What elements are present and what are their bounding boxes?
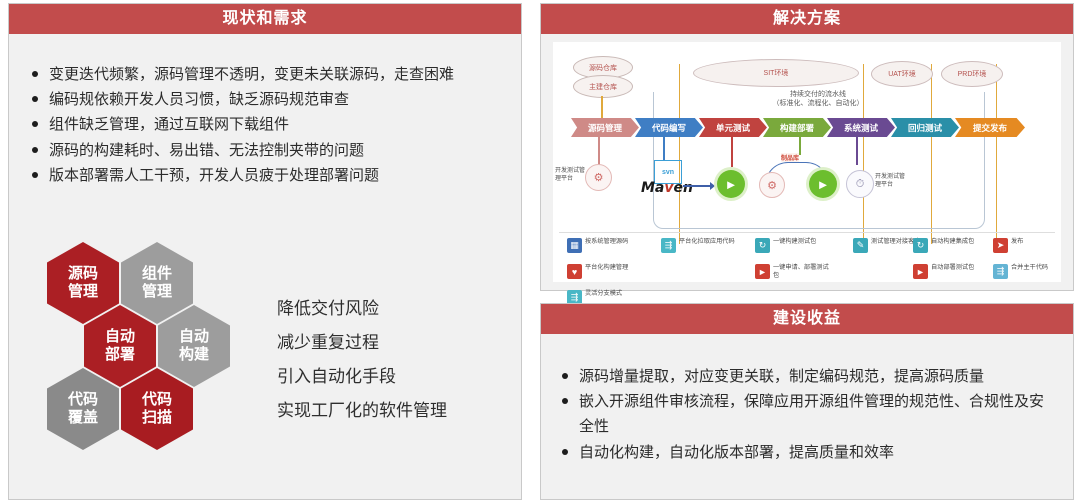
deploy-play-icon: ► — [809, 170, 837, 198]
stage-stem-line — [856, 137, 858, 165]
grid-icon: ▦ — [567, 238, 582, 253]
heart-icon: ♥ — [567, 264, 582, 279]
benefit-line: 实现工厂化的软件管理 — [277, 394, 507, 428]
env-label: PRD环境 — [958, 69, 987, 79]
env-label: UAT环境 — [888, 69, 915, 79]
stage-system-test: 系统测试 — [827, 118, 895, 137]
current-situation-bullet-list: 变更迭代频繁，源码管理不透明，变更未关联源码，走查困难 编码规依赖开发人员习惯，… — [29, 62, 499, 188]
pipeline-caption: 持续交付的流水线 （标准化、流程化、自动化） — [738, 90, 898, 108]
pipeline-caption-line2: （标准化、流程化、自动化） — [738, 99, 898, 108]
stage-source-code-management: 源码管理 — [571, 118, 639, 137]
hexagon-auto-build: 自动 构建 — [158, 305, 230, 387]
slide-root: 现状和需求 变更迭代频繁，源码管理不透明，变更未关联源码，走查困难 编码规依赖开… — [0, 0, 1080, 503]
list-item: 源码的构建耗时、易出错、无法控制夹带的问题 — [29, 138, 499, 163]
pipeline-caption-line1: 持续交付的流水线 — [738, 90, 898, 99]
maven-text-part3: en — [674, 180, 693, 196]
hexagon-label-line1: 组件 — [142, 265, 172, 283]
hexagon-label-line2: 管理 — [68, 283, 98, 301]
feature-label: 一键申请、部署测试包 — [773, 264, 831, 281]
panel-current-situation: 现状和需求 变更迭代频繁，源码管理不透明，变更未关联源码，走查困难 编码规依赖开… — [8, 3, 522, 500]
hexagon-code-coverage: 代码 覆盖 — [47, 368, 119, 450]
panel-current-situation-title: 现状和需求 — [9, 4, 521, 34]
diagram-divider — [559, 232, 1055, 233]
maven-arrow-head — [710, 182, 715, 190]
solution-diagram: 源码仓库 主建仓库 SIT环境 UAT环境 PRD环境 — [553, 42, 1061, 282]
sync-icon: ↻ — [755, 238, 770, 253]
hexagon-label-line2: 扫描 — [142, 409, 172, 427]
feature-label: 自动部署测试包 — [931, 264, 974, 272]
panel-construction-gains-body: 源码增量提取，对应变更关联，制定编码规范，提高源码质量 嵌入开源组件审核流程，保… — [541, 334, 1073, 499]
hexagon-label-line2: 覆盖 — [68, 409, 98, 427]
dev-platform-gear-icon-left: ⚙ — [585, 164, 612, 191]
stage-unit-test: 单元测试 — [699, 118, 767, 137]
list-item: 源码增量提取，对应变更关联，制定编码规范，提高源码质量 — [559, 364, 1055, 389]
list-item: 组件缺乏管理，通过互联网下载组件 — [29, 112, 499, 137]
hexagon-auto-deploy: 自动 部署 — [84, 305, 156, 387]
maven-text-part1: Ma — [641, 180, 664, 196]
feature-label: 平台化拉取应用代码 — [679, 238, 735, 246]
artifact-repo-label: 制品库 — [781, 153, 799, 162]
env-prd-ellipse: PRD环境 — [941, 61, 1003, 87]
hexagon-label-line1: 自动 — [179, 328, 209, 346]
feature-label: 自动构建集成包 — [931, 238, 974, 246]
env-sit-ellipse: SIT环境 — [693, 59, 859, 87]
stage-label: 源码管理 — [588, 122, 622, 134]
repo-label: 源码仓库 — [589, 63, 617, 73]
panel-construction-gains: 建设收益 源码增量提取，对应变更关联，制定编码规范，提高源码质量 嵌入开源组件审… — [540, 303, 1074, 500]
hexagon-label-line2: 管理 — [142, 283, 172, 301]
stage-submit-release: 提交发布 — [955, 118, 1025, 137]
hexagon-label-line1: 自动 — [105, 328, 135, 346]
branch-icon: ⇶ — [661, 238, 676, 253]
stage-label: 单元测试 — [716, 122, 750, 134]
hexagon-cluster: 源码 管理 组件 管理 自动 部署 自动 构建 代码 覆盖 — [39, 242, 259, 472]
dev-platform-label-left: 开发测试管理平台 — [555, 168, 585, 184]
feature-test-management-client: ✎ 测试管理对接客户 — [853, 238, 921, 253]
benefit-line: 引入自动化手段 — [277, 360, 507, 394]
feature-label: 合并主干代码 — [1011, 264, 1048, 272]
hexagon-label-line1: 代码 — [142, 391, 172, 409]
stage-stem-line — [663, 137, 665, 161]
list-item: 嵌入开源组件审核流程，保障应用开源组件管理的规范性、合规性及安全性 — [559, 389, 1055, 439]
feature-manage-source-by-system: ▦ 按系统管理源码 — [567, 238, 628, 253]
feature-platform-build-management: ♥ 平台化构建管理 — [567, 264, 628, 279]
hexagon-code-scan: 代码 扫描 — [121, 368, 193, 450]
feature-auto-build-integration-package: ↻ 自动构建集成包 — [913, 238, 974, 253]
env-uat-ellipse: UAT环境 — [871, 61, 933, 87]
benefit-line: 减少重复过程 — [277, 326, 507, 360]
feature-one-click-apply-deploy-test-package: ► 一键申请、部署测试包 — [755, 264, 831, 281]
stage-regression-test: 回归测试 — [891, 118, 959, 137]
maven-arrow-line — [683, 185, 711, 187]
benefit-line: 降低交付风险 — [277, 292, 507, 326]
hexagon-source-code-management: 源码 管理 — [47, 242, 119, 324]
env-label: SIT环境 — [764, 68, 789, 78]
feature-label: 发布 — [1011, 238, 1023, 246]
stage-build-deploy: 构建部署 — [763, 118, 831, 137]
panel-construction-gains-title: 建设收益 — [541, 304, 1073, 334]
stage-label: 回归测试 — [908, 122, 942, 134]
list-item: 编码规依赖开发人员习惯，缺乏源码规范审查 — [29, 87, 499, 112]
stage-label: 提交发布 — [973, 122, 1007, 134]
hexagon-label-line2: 构建 — [179, 346, 209, 364]
rocket-icon: ➤ — [993, 238, 1008, 253]
feature-label: 一键构建测试包 — [773, 238, 816, 246]
sync-icon: ↻ — [913, 238, 928, 253]
list-item: 变更迭代频繁，源码管理不透明，变更未关联源码，走查困难 — [29, 62, 499, 87]
feature-label: 灵活分支模式 — [585, 290, 622, 298]
maven-text-part2: v — [664, 180, 673, 196]
maven-logo: Maven — [641, 180, 693, 196]
dev-platform-gauge-icon-right: ⏱ — [846, 170, 874, 198]
play-icon: ► — [913, 264, 928, 279]
panel-solution: 解决方案 源码仓库 主建仓库 SIT环境 — [540, 3, 1074, 291]
panel-solution-body: 源码仓库 主建仓库 SIT环境 UAT环境 PRD环境 — [541, 34, 1073, 290]
stage-stem-line — [731, 137, 733, 167]
stage-stem-line — [598, 137, 600, 167]
repo-label: 主建仓库 — [589, 82, 617, 92]
list-item: 自动化构建，自动化版本部署，提高质量和效率 — [559, 440, 1055, 465]
edit-icon: ✎ — [853, 238, 868, 253]
branch-icon: ⇶ — [993, 264, 1008, 279]
gains-bullet-list: 源码增量提取，对应变更关联，制定编码规范，提高源码质量 嵌入开源组件审核流程，保… — [559, 364, 1055, 465]
env-separator-line — [996, 64, 997, 244]
stage-label: 代码编写 — [652, 122, 686, 134]
build-gear-icon: ⚙ — [759, 172, 785, 198]
feature-merge-trunk-code: ⇶ 合并主干代码 — [993, 264, 1048, 279]
list-item: 版本部署需人工干预，开发人员疲于处理部署问题 — [29, 163, 499, 188]
stage-label: 构建部署 — [780, 122, 814, 134]
stage-label: 系统测试 — [844, 122, 878, 134]
pipeline-container-box — [653, 92, 985, 229]
stage-stem-line — [799, 137, 801, 155]
dev-platform-label-right: 开发测试管理平台 — [875, 174, 907, 190]
hexagon-component-management: 组件 管理 — [121, 242, 193, 324]
feature-label: 平台化构建管理 — [585, 264, 628, 272]
feature-release: ➤ 发布 — [993, 238, 1023, 253]
benefit-text-column: 降低交付风险 减少重复过程 引入自动化手段 实现工厂化的软件管理 — [277, 292, 507, 428]
feature-one-click-build-test-package: ↻ 一键构建测试包 — [755, 238, 816, 253]
panel-current-situation-body: 变更迭代频繁，源码管理不透明，变更未关联源码，走查困难 编码规依赖开发人员习惯，… — [9, 34, 521, 499]
hexagon-label-line1: 代码 — [68, 391, 98, 409]
feature-label: 按系统管理源码 — [585, 238, 628, 246]
unit-test-play-icon: ► — [717, 170, 745, 198]
play-icon: ► — [755, 264, 770, 279]
feature-auto-deploy-test-package: ► 自动部署测试包 — [913, 264, 974, 279]
build-repo-ellipse: 主建仓库 — [573, 75, 633, 98]
hexagon-label-line1: 源码 — [68, 265, 98, 283]
hexagon-label-line2: 部署 — [105, 346, 135, 364]
feature-platform-pull-app-code: ⇶ 平台化拉取应用代码 — [661, 238, 735, 253]
stage-code-writing: 代码编写 — [635, 118, 703, 137]
panel-solution-title: 解决方案 — [541, 4, 1073, 34]
